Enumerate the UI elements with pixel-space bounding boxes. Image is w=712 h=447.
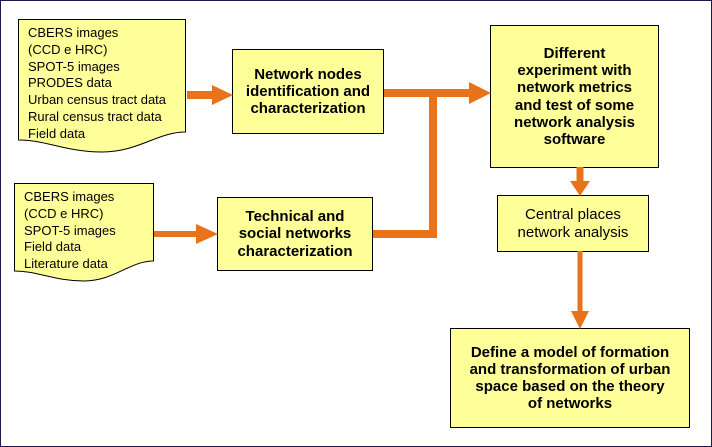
node-input-data-1-label: CBERS images (CCD e HRC) SPOT-5 images P… xyxy=(18,19,166,142)
flowchart-canvas: CBERS images (CCD e HRC) SPOT-5 images P… xyxy=(0,0,712,447)
node-technical-social-networks: Technical and social networks characteri… xyxy=(217,197,373,271)
arrow-input1-to-nodes xyxy=(187,81,235,109)
arrow-central-to-define xyxy=(566,251,594,330)
node-define-model: Define a model of formation and transfor… xyxy=(450,328,690,428)
node-different-experiment: Different experiment with network metric… xyxy=(490,25,659,168)
node-central-places-analysis: Central places network analysis xyxy=(497,195,649,252)
arrow-experiment-to-central xyxy=(566,167,594,197)
node-input-data-2-label: CBERS images (CCD e HRC) SPOT-5 images F… xyxy=(14,183,116,273)
node-input-data-2: CBERS images (CCD e HRC) SPOT-5 images F… xyxy=(14,183,154,287)
node-input-data-1: CBERS images (CCD e HRC) SPOT-5 images P… xyxy=(18,19,186,159)
arrow-input2-to-technical xyxy=(154,220,220,248)
arrow-technical-to-experiment xyxy=(371,87,446,247)
node-network-nodes-identification: Network nodes identification and charact… xyxy=(232,49,384,134)
